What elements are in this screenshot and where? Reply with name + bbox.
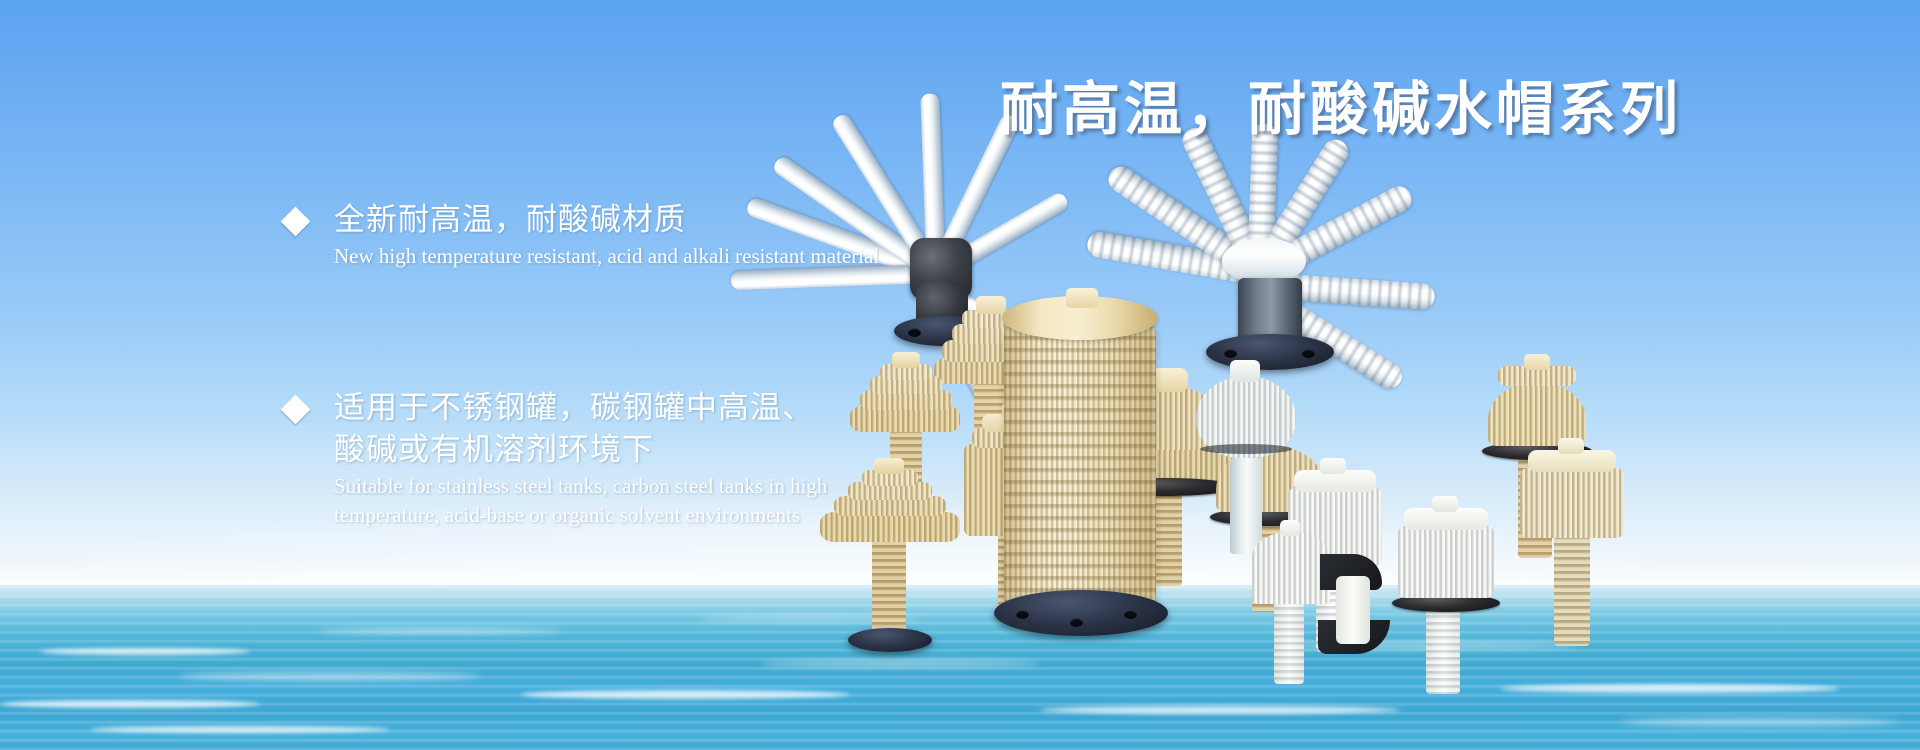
water-highlight — [320, 628, 560, 634]
diamond-bullet-icon — [281, 395, 311, 425]
flange-hole — [1124, 610, 1137, 619]
feature-1-en: New high temperature resistant, acid and… — [334, 244, 879, 270]
nozzle-dome — [1252, 532, 1330, 604]
nozzle-seal — [1200, 444, 1292, 454]
feature-bullet-2: 适用于不锈钢罐，碳钢罐中高温、 酸碱或有机溶剂环境下 Suitable for … — [285, 388, 827, 528]
nozzle-stem — [1554, 536, 1590, 646]
flange-hole — [908, 328, 921, 337]
water-highlight — [1620, 718, 1900, 726]
nozzle-filter-body — [1520, 468, 1624, 538]
water-highlight — [760, 660, 1040, 667]
nozzle-skirt — [820, 512, 960, 542]
nozzle-cap — [1280, 520, 1300, 536]
nozzle-filter-body — [1398, 526, 1494, 598]
strainer-flange — [994, 590, 1168, 636]
nozzle-flange — [848, 628, 932, 652]
water-highlight — [520, 690, 850, 699]
nozzle-dome — [1488, 382, 1586, 446]
feature-2-en-line-1: Suitable for stainless steel tanks, carb… — [334, 474, 827, 500]
flange-hole — [1070, 618, 1083, 627]
feature-2-cn-line-1: 适用于不锈钢罐，碳钢罐中高温、 — [334, 388, 827, 430]
water-highlight — [180, 672, 480, 681]
nozzle-cap — [1524, 354, 1550, 370]
nozzle-stem — [872, 538, 906, 638]
water-highlight — [1500, 684, 1840, 693]
feature-2-cn-line-2: 酸碱或有机溶剂环境下 — [334, 430, 827, 472]
flange-hole — [1224, 349, 1237, 358]
strainer-cap-boss — [1066, 288, 1098, 308]
nozzle-stem — [1426, 608, 1460, 694]
flange-hole — [1302, 349, 1315, 358]
diamond-bullet-icon — [281, 207, 311, 237]
inner-sleeve — [1336, 576, 1370, 644]
flange-hole — [1016, 610, 1029, 619]
water-highlight — [40, 648, 250, 655]
nozzle-cap — [1230, 360, 1260, 382]
water-highlight — [0, 700, 260, 708]
nozzle-cap — [892, 352, 920, 368]
nozzle-stem — [1274, 600, 1304, 684]
product-cluster — [860, 120, 1920, 640]
feature-bullet-1: 全新耐高温，耐酸碱材质 New high temperature resista… — [285, 200, 879, 269]
nozzle-cap — [1320, 458, 1346, 474]
water-highlight — [1040, 706, 1400, 714]
water-highlight — [90, 726, 390, 733]
page-title: 耐高温，耐酸碱水帽系列 — [1000, 62, 1682, 146]
nozzle-cap — [874, 458, 904, 474]
strainer-body — [1004, 324, 1156, 606]
feature-2-en-line-2: temperature, acid-base or organic solven… — [334, 503, 827, 529]
nozzle-cap — [1432, 496, 1458, 512]
nozzle-stem — [1230, 458, 1262, 554]
nozzle-cap — [976, 296, 1006, 314]
product-banner: 耐高温，耐酸碱水帽系列 全新耐高温，耐酸碱材质 New high tempera… — [0, 0, 1920, 750]
feature-1-cn: 全新耐高温，耐酸碱材质 — [334, 200, 879, 242]
nozzle-cap — [1558, 438, 1584, 454]
assembly-flange — [1206, 334, 1334, 370]
